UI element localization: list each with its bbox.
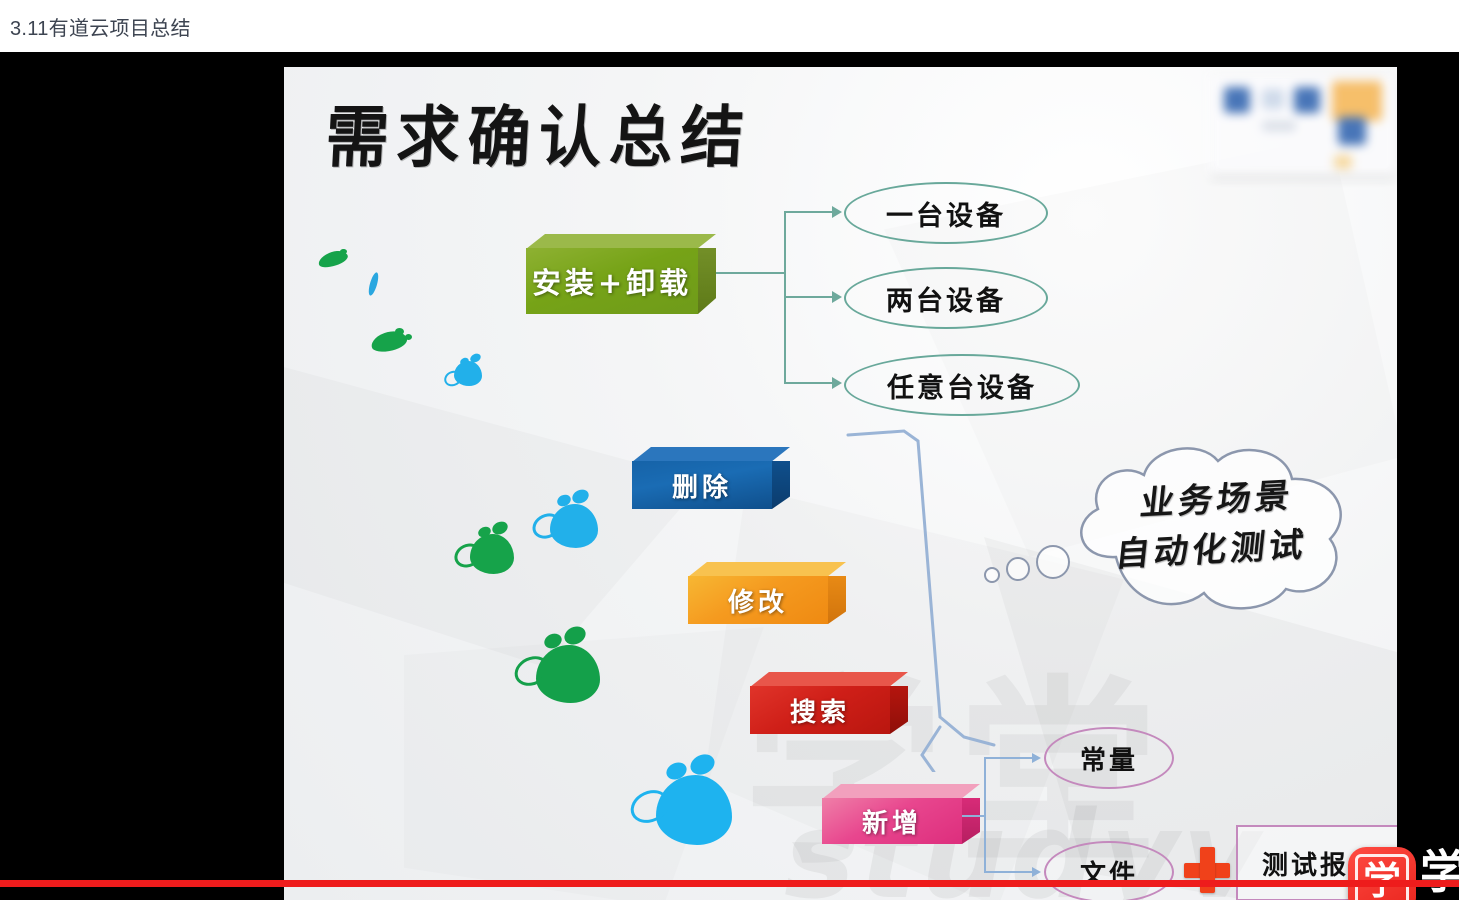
video-progress-bar[interactable] [0, 880, 1459, 887]
thought-bubble-medium [1006, 557, 1030, 581]
video-player-page: 3.11有道云项目总结 学堂 studyv [0, 0, 1459, 900]
footprint-decoration [318, 252, 352, 270]
brand-logo-glyph: 学 [1355, 854, 1409, 900]
background-facet [284, 367, 704, 667]
arrow-icon [1032, 753, 1041, 763]
cloud-text: 业务场景 自动化测试 [1068, 468, 1361, 583]
footprint-decoration [371, 332, 415, 358]
footprint-decoration [444, 355, 488, 389]
node-modify: 修改 [688, 562, 828, 624]
arrow-icon [1032, 867, 1041, 877]
node-label: 安装+卸载 [526, 248, 698, 314]
node-file: 文件 [1044, 841, 1174, 900]
node-any-devices: 任意台设备 [844, 354, 1080, 416]
brand-wordmark: 学 [1420, 850, 1459, 894]
blurred-overlay-panel [1210, 67, 1397, 197]
connector-line [984, 871, 1038, 873]
node-one-device: 一台设备 [844, 182, 1048, 244]
arrow-icon [832, 206, 842, 218]
presentation-slide: 学堂 studyv [284, 67, 1397, 900]
window-titlebar: 3.11有道云项目总结 [0, 0, 1459, 52]
footprint-decoration [514, 629, 602, 705]
footprint-decoration [630, 757, 734, 849]
arrow-icon [832, 291, 842, 303]
box-top-face [688, 562, 846, 577]
node-delete: 删除 [632, 447, 772, 509]
footprint-decoration [454, 522, 518, 576]
box-side-face [698, 248, 716, 314]
video-viewport[interactable]: 学堂 studyv [0, 52, 1459, 900]
footprint-decoration [370, 272, 390, 298]
node-constant: 常量 [1044, 727, 1174, 789]
connector-line [984, 757, 986, 873]
connector-line [984, 757, 1038, 759]
footprint-decoration [532, 492, 600, 550]
brand-logo-icon: 学 [1348, 847, 1416, 900]
node-label: 修改 [688, 576, 828, 624]
page-title: 3.11有道云项目总结 [10, 12, 191, 41]
slide-heading: 需求确认总结 [323, 84, 754, 180]
node-install-uninstall: 安装+卸载 [526, 234, 698, 314]
box-top-face [526, 234, 716, 249]
box-top-face [632, 447, 790, 462]
node-create: 新增 [822, 784, 962, 844]
node-label: 新增 [822, 798, 962, 844]
video-progress-fill [0, 880, 1459, 887]
connector-line [962, 815, 986, 817]
node-label: 删除 [632, 461, 772, 509]
box-top-face [822, 784, 980, 799]
arrow-icon [832, 377, 842, 389]
brace-connector [844, 427, 1044, 772]
node-two-devices: 两台设备 [844, 267, 1048, 329]
thought-bubble-small [984, 567, 1000, 583]
